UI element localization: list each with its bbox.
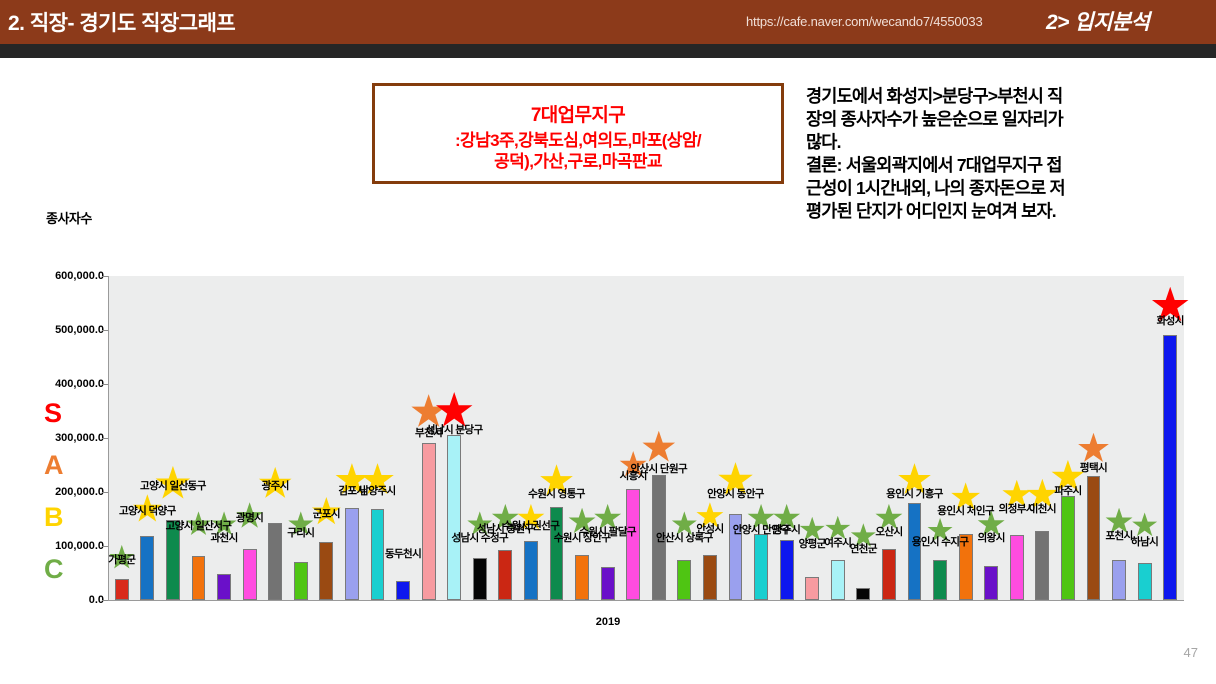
- bar: [1061, 496, 1075, 600]
- bar: [396, 581, 410, 600]
- bar: [1138, 563, 1152, 600]
- bar-label: 남양주시: [359, 483, 395, 498]
- commentary-line: 평가된 단지가 어디인지 눈여겨 보자.: [806, 200, 1210, 223]
- bar-label: 양평군: [799, 536, 826, 551]
- commentary-block: 경기도에서 화성지>분당구>부천시 직 장의 종사자수가 높은순으로 일자리가 …: [806, 85, 1210, 224]
- bar-label: 포천시: [1105, 528, 1132, 543]
- bar: [933, 560, 947, 601]
- bar-label: 동두천시: [385, 546, 421, 561]
- bar-label: 군포시: [313, 506, 340, 521]
- bar: [626, 489, 640, 600]
- bar-label: 수원시 팔달구: [579, 524, 636, 539]
- bar-label: 고양시 덕양구: [119, 503, 176, 518]
- bar-label: 용인시 기흥구: [886, 486, 943, 501]
- bar-label: 여주시: [824, 535, 851, 550]
- commentary-line: 많다.: [806, 131, 1210, 154]
- grade-label-b: B: [44, 504, 64, 531]
- bar-label: 가평군: [108, 552, 135, 567]
- bar: [447, 435, 461, 600]
- bar-label: 성남시 분당구: [426, 422, 483, 437]
- bar-label: 평택시: [1080, 460, 1107, 475]
- bar: [319, 542, 333, 600]
- bar-label: 안산시 단원구: [630, 461, 687, 476]
- bar-label: 수원시 권선구: [503, 518, 560, 533]
- callout-text: 7대업무지구 :강남3주,강북도심,여의도,마포(상암/ 공덕),가산,구로,마…: [375, 104, 781, 172]
- bar: [1112, 560, 1126, 601]
- bar: [805, 577, 819, 600]
- page-number: 47: [1184, 645, 1198, 660]
- bar-label: 오산시: [875, 524, 902, 539]
- bar: [856, 588, 870, 600]
- bar: [601, 567, 615, 600]
- y-axis-tick: 500,000.0: [55, 324, 104, 336]
- bar: [217, 574, 231, 600]
- bar-label: 광주시: [262, 478, 289, 493]
- bar-label: 의왕시: [978, 530, 1005, 545]
- bar: [422, 443, 436, 600]
- bar: [192, 556, 206, 600]
- y-axis-tick: 400,000.0: [55, 378, 104, 390]
- commentary-line: 장의 종사자수가 높은순으로 일자리가: [806, 108, 1210, 131]
- bar: [754, 534, 768, 600]
- bar: [473, 558, 487, 600]
- bar-label: 이천시: [1029, 501, 1056, 516]
- bar-label: 파주시: [1054, 483, 1081, 498]
- bar: [1163, 335, 1177, 600]
- bar: [575, 555, 589, 600]
- bar: [243, 549, 257, 600]
- commentary-line: 경기도에서 화성지>분당구>부천시 직: [806, 85, 1210, 108]
- bar-label: 화성시: [1157, 313, 1184, 328]
- bar: [677, 560, 691, 600]
- bar-label: 광명시: [236, 510, 263, 525]
- callout-line-3: 공덕),가산,구로,마곡판교: [375, 151, 781, 172]
- bar: [345, 508, 359, 600]
- x-axis-label: 2019: [0, 616, 1216, 628]
- commentary-line: 근성이 1시간내외, 나의 종자돈으로 저: [806, 177, 1210, 200]
- bar-label: 구리시: [287, 525, 314, 540]
- slide-header: 2. 직장- 경기도 직장그래프 https://cafe.naver.com/…: [0, 0, 1216, 44]
- bar-label: 안양시 동안구: [707, 486, 764, 501]
- callout-line-2: :강남3주,강북도심,여의도,마포(상암/: [375, 130, 781, 151]
- bar: [780, 540, 794, 600]
- grade-label-s: S: [44, 400, 62, 427]
- bar-label: 양주시: [773, 522, 800, 537]
- source-url[interactable]: https://cafe.naver.com/wecando7/4550033: [746, 14, 982, 29]
- bar: [908, 503, 922, 600]
- header-divider: [0, 44, 1216, 58]
- bar: [703, 555, 717, 600]
- bar-label: 과천시: [210, 530, 237, 545]
- grade-label-a: A: [44, 452, 64, 479]
- bar: [831, 560, 845, 600]
- grade-label-c: C: [44, 556, 64, 583]
- bar: [140, 536, 154, 600]
- y-axis-tick: 100,000.0: [55, 540, 104, 552]
- y-axis-tick: 600,000.0: [55, 270, 104, 282]
- y-axis-tick: 300,000.0: [55, 432, 104, 444]
- bar-label: 용인시 수지구: [912, 534, 969, 549]
- bar: [524, 541, 538, 600]
- bar-label: 용인시 처인구: [937, 503, 994, 518]
- bar-label: 하남시: [1131, 534, 1158, 549]
- bar-label: 안성시: [696, 521, 723, 536]
- callout-box: 7대업무지구 :강남3주,강북도심,여의도,마포(상암/ 공덕),가산,구로,마…: [372, 83, 784, 184]
- y-axis-tick: 200,000.0: [55, 486, 104, 498]
- bar: [1010, 535, 1024, 600]
- bar: [498, 550, 512, 600]
- bar-label: 수원시 영통구: [528, 486, 585, 501]
- bar: [268, 523, 282, 600]
- callout-title: 7대업무지구: [375, 104, 781, 128]
- bar: [371, 509, 385, 600]
- commentary-line: 결론: 서울외곽지에서 7대업무지구 접: [806, 154, 1210, 177]
- bar: [115, 579, 129, 600]
- bar-label: 고양시 일산동구: [140, 478, 206, 493]
- bar: [1087, 476, 1101, 600]
- bar-label: 연천군: [850, 541, 877, 556]
- bar: [882, 549, 896, 600]
- bar: [1035, 531, 1049, 600]
- bar: [294, 562, 308, 600]
- section-tag: 2> 입지분석: [1046, 6, 1150, 36]
- bar-series: [109, 276, 1183, 600]
- bar: [984, 566, 998, 600]
